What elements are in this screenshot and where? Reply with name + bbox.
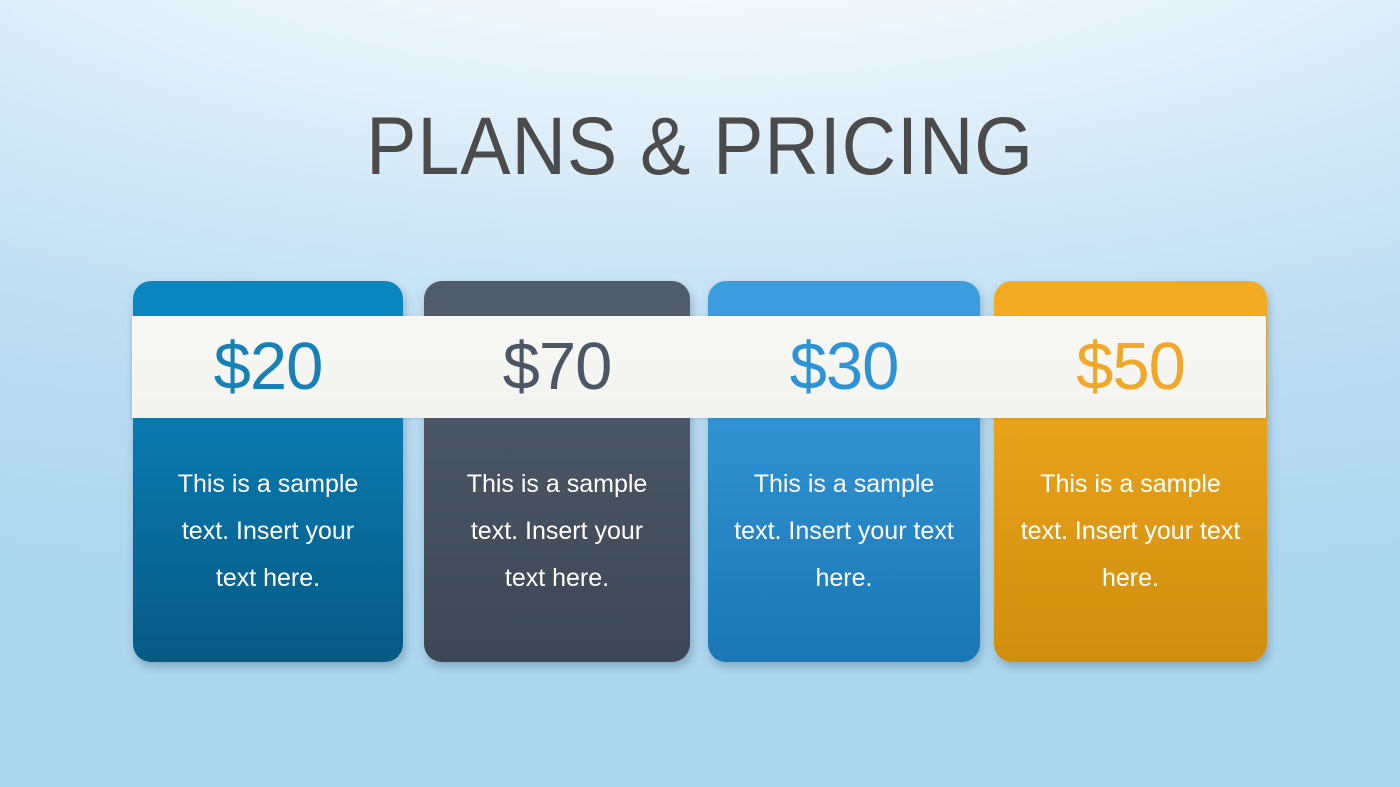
pricing-slide: PLANS & PRICING This is a sample text. I… bbox=[0, 0, 1400, 787]
pricing-card-description: This is a sample text. Insert your text … bbox=[708, 461, 980, 602]
price-band: $20 $70 $30 $50 bbox=[132, 316, 1266, 418]
price-label-plan-3: $30 bbox=[708, 316, 980, 418]
pricing-card-description: This is a sample text. Insert your text … bbox=[424, 461, 690, 602]
pricing-card-description: This is a sample text. Insert your text … bbox=[133, 461, 403, 602]
price-label-plan-1: $20 bbox=[133, 316, 403, 418]
price-label-plan-4: $50 bbox=[994, 316, 1267, 418]
pricing-card-description: This is a sample text. Insert your text … bbox=[994, 461, 1267, 602]
page-title: PLANS & PRICING bbox=[56, 101, 1344, 193]
price-label-plan-2: $70 bbox=[424, 316, 690, 418]
